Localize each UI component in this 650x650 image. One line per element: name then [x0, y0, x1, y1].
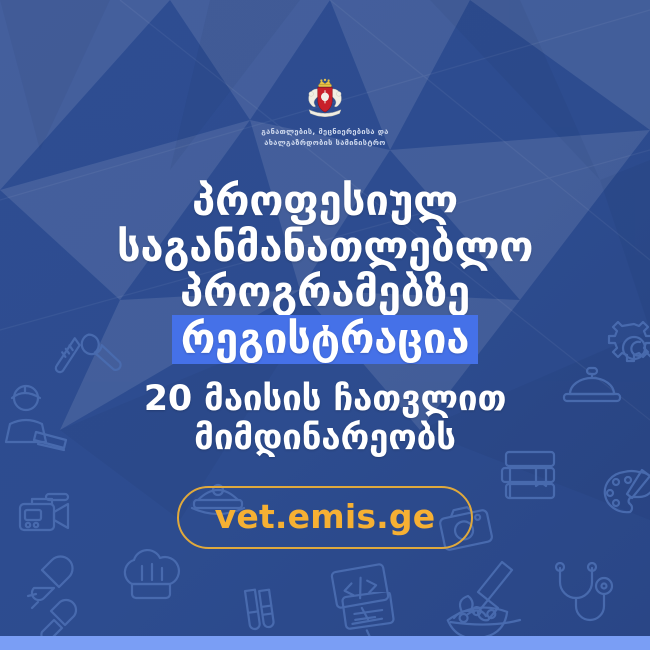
subline: 20 მაისის ჩათვლით მიმდინარეობს	[144, 380, 506, 458]
headline-line-4-wrapper: რეგისტრაცია	[117, 315, 533, 364]
ministry-name-line-1: განათლების, მეცნიერებისა და	[261, 127, 389, 138]
subline-line-1: 20 მაისის ჩათვლით	[144, 380, 506, 419]
headline-line-1: პროფესიულ	[117, 178, 533, 223]
headline: პროფესიულ საგანმანათლებლო პროგრამებზე რე…	[117, 178, 533, 363]
ministry-name: განათლების, მეცნიერებისა და ახალგაზრდობი…	[261, 127, 389, 148]
website-link-button[interactable]: vet.emis.ge	[177, 486, 474, 549]
headline-line-3: პროგრამებზე	[117, 269, 533, 314]
georgia-coat-of-arms-icon	[303, 78, 347, 120]
poster-canvas: განათლების, მეცნიერებისა და ახალგაზრდობი…	[0, 0, 650, 650]
ministry-name-line-2: ახალგაზრდობის სამინისტრო	[261, 138, 389, 149]
registration-highlight: რეგისტრაცია	[172, 315, 479, 364]
ministry-logo-block: განათლების, მეცნიერებისა და ახალგაზრდობი…	[261, 78, 389, 148]
cta-wrapper: vet.emis.ge	[177, 486, 474, 549]
poster-content: განათლების, მეცნიერებისა და ახალგაზრდობი…	[0, 0, 650, 650]
subline-line-2: მიმდინარეობს	[144, 419, 506, 458]
bottom-accent-bar	[0, 636, 650, 650]
headline-line-2: საგანმანათლებლო	[117, 224, 533, 269]
